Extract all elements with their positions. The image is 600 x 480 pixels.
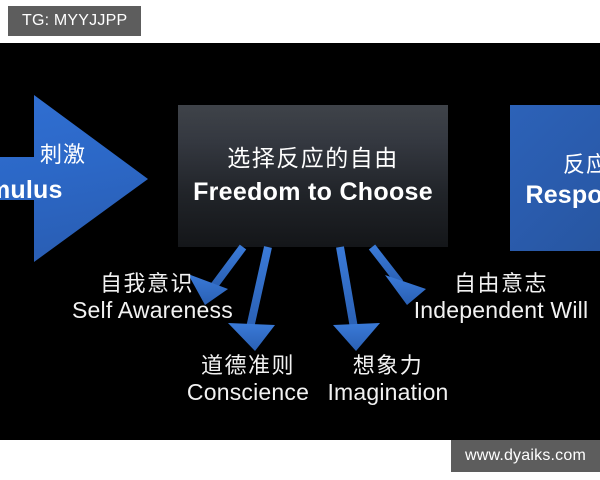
leaf-label-conscience: 道德准则 Conscience (178, 353, 318, 406)
freedom-label-cn: 选择反应的自由 (227, 144, 399, 174)
stimulus-label-en: mulus (0, 176, 63, 204)
telegram-watermark-badge: TG: MYYJJPP (8, 6, 141, 36)
response-label-cn: 反应 (563, 147, 600, 179)
leaf-label-independent-will-cn: 自由意志 (410, 271, 592, 297)
leaf-label-imagination-cn: 想象力 (318, 353, 458, 379)
website-watermark-text: www.dyaiks.com (465, 447, 586, 465)
arrow-to-conscience (228, 247, 275, 351)
website-watermark-badge: www.dyaiks.com (451, 440, 600, 472)
telegram-watermark-text: TG: MYYJJPP (22, 12, 127, 30)
leaf-label-conscience-en: Conscience (178, 379, 318, 406)
leaf-label-imagination: 想象力 Imagination (318, 353, 458, 406)
leaf-label-conscience-cn: 道德准则 (178, 353, 318, 379)
leaf-label-self-awareness-cn: 自我意识 (72, 271, 222, 297)
arrow-to-imagination (333, 247, 380, 351)
freedom-to-choose-text-group: 选择反应的自由 Freedom to Choose (178, 105, 448, 247)
leaf-label-independent-will-en: Independent Will (410, 297, 592, 324)
leaf-label-imagination-en: Imagination (318, 379, 458, 406)
leaf-label-self-awareness-en: Self Awareness (72, 297, 222, 324)
slide-canvas: 刺激 mulus 选择反应的自由 Freedom to Choose 反应 Re… (0, 43, 600, 440)
freedom-label-en: Freedom to Choose (193, 176, 433, 209)
response-text-group: 反应 Response (510, 105, 600, 251)
leaf-label-independent-will: 自由意志 Independent Will (410, 271, 592, 324)
leaf-label-self-awareness: 自我意识 Self Awareness (72, 271, 222, 324)
response-label-en: Response (525, 181, 600, 210)
stimulus-label-cn: 刺激 (40, 143, 86, 168)
